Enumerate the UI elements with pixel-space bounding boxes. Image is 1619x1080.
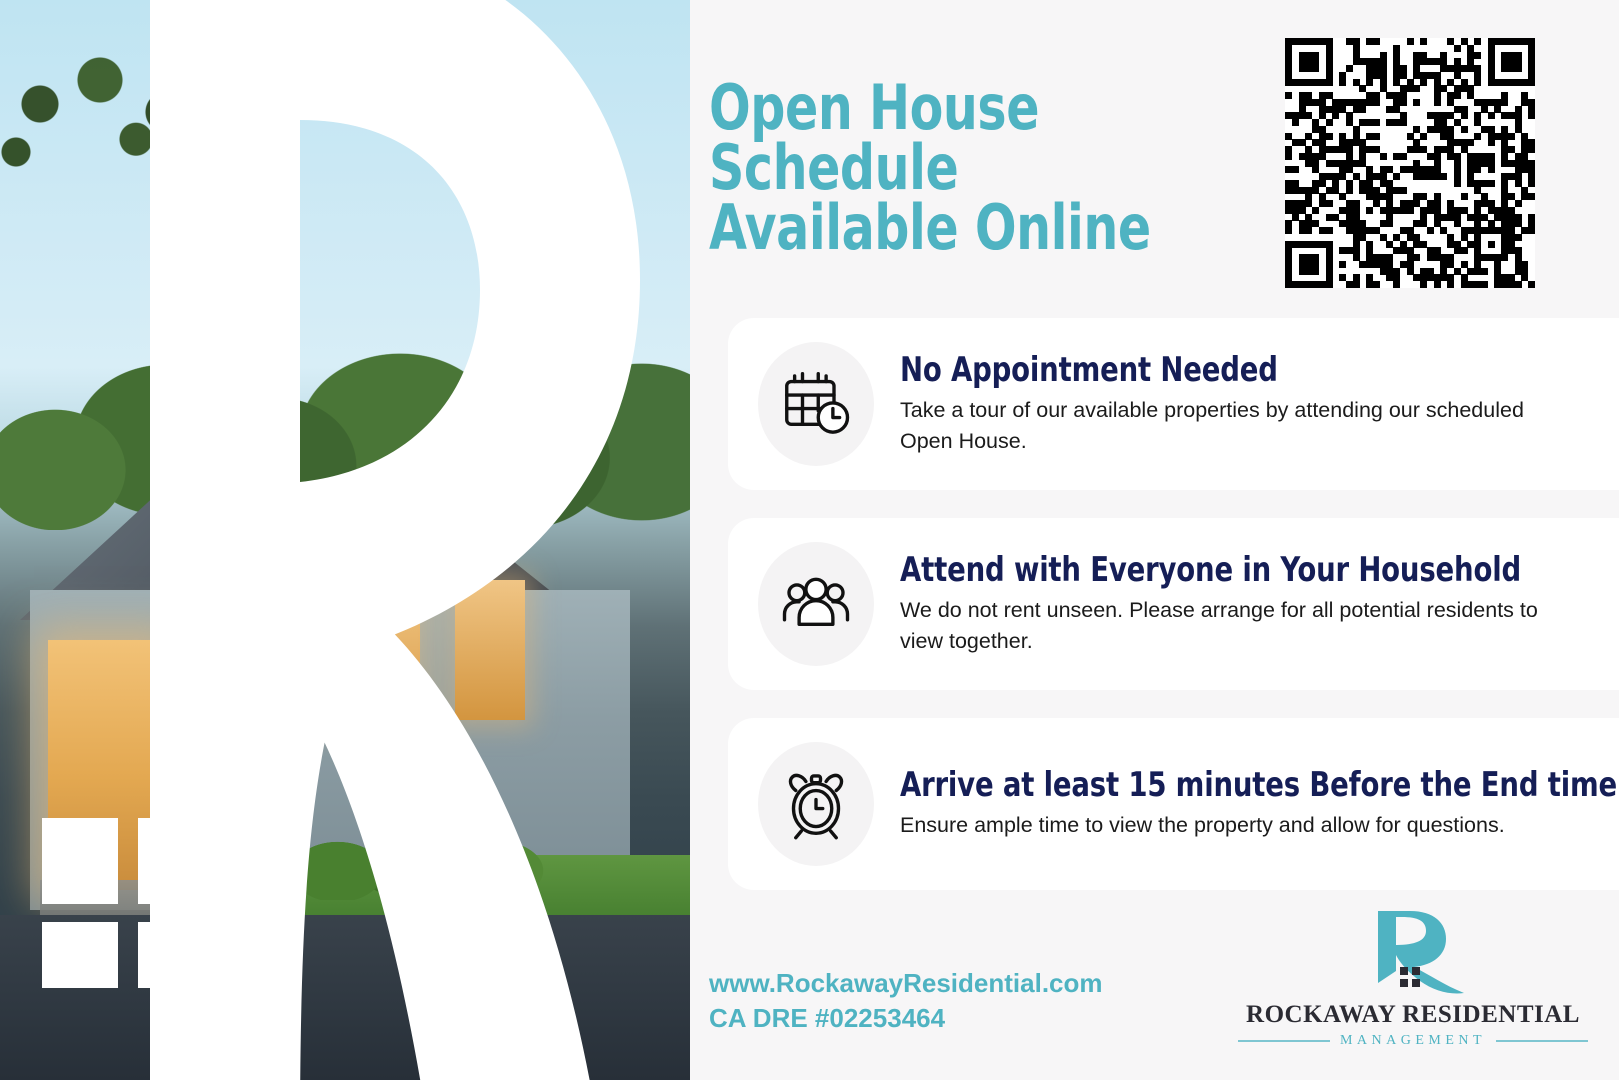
info-card-text: Arrive at least 15 minutes Before the En…: [900, 767, 1619, 841]
figure-child-body: [191, 672, 223, 716]
license-number: CA DRE #02253464: [709, 1001, 1103, 1036]
window-square-4: [138, 922, 214, 988]
info-card-title: No Appointment Needed: [900, 352, 1564, 388]
info-card-no-appointment: No Appointment Needed Take a tour of our…: [728, 318, 1619, 490]
hero-image-panel: [0, 0, 690, 1080]
website-link[interactable]: www.RockawayResidential.com: [709, 966, 1103, 1001]
window-square-2: [138, 818, 214, 904]
figure-adult-body: [187, 722, 225, 800]
info-card-title: Attend with Everyone in Your Household: [900, 552, 1564, 588]
content-panel: Open House Schedule Available Online No …: [690, 0, 1619, 1080]
logo-rule-left: [1238, 1040, 1330, 1042]
tree-line: [0, 330, 690, 530]
qr-code-canvas[interactable]: [1285, 38, 1535, 288]
figure-woman: [248, 705, 294, 860]
info-card-description: Take a tour of our available properties …: [900, 395, 1570, 456]
logo-subtitle: MANAGEMENT: [1340, 1033, 1486, 1049]
company-logo: ROCKAWAY RESIDENTIAL MANAGEMENT: [1238, 905, 1588, 1055]
window-square-1: [42, 818, 118, 904]
info-card-text: No Appointment Needed Take a tour of our…: [900, 352, 1619, 456]
lit-window-left: [330, 560, 420, 720]
figure-woman-head: [261, 705, 281, 728]
logo-r-monogram-icon: [1338, 905, 1488, 997]
window-grid-motif: [42, 818, 210, 988]
headline-line-2: Available Online: [709, 198, 1228, 258]
info-card-title: Arrive at least 15 minutes Before the En…: [900, 767, 1564, 803]
info-card-description: Ensure ample time to view the property a…: [900, 810, 1570, 841]
figure-child-head: [199, 655, 216, 673]
footer-contact: www.RockawayResidential.com CA DRE #0225…: [709, 966, 1103, 1037]
open-house-flyer: Open House Schedule Available Online No …: [0, 0, 1619, 1080]
figure-child: [190, 655, 224, 715]
lit-window-right: [455, 580, 525, 720]
info-card-household: Attend with Everyone in Your Household W…: [728, 518, 1619, 690]
figure-woman-body: [252, 728, 290, 788]
people-group-icon: [758, 542, 874, 666]
info-card-description: We do not rent unseen. Please arrange fo…: [900, 595, 1570, 656]
calendar-clock-icon: [758, 342, 874, 466]
tree-canopy: [0, 40, 280, 200]
info-card-text: Attend with Everyone in Your Household W…: [900, 552, 1619, 656]
logo-wordmark: ROCKAWAY RESIDENTIAL: [1238, 1001, 1588, 1029]
qr-code[interactable]: [1285, 38, 1535, 288]
window-square-3: [42, 922, 118, 988]
logo-subtitle-row: MANAGEMENT: [1238, 1033, 1588, 1049]
headline-line-1: Open House Schedule: [709, 71, 1039, 204]
shrubs: [300, 830, 550, 900]
figure-woman-skirt: [246, 783, 296, 845]
page-title: Open House Schedule Available Online: [709, 78, 1228, 258]
info-card-arrive-early: Arrive at least 15 minutes Before the En…: [728, 718, 1619, 890]
logo-rule-right: [1496, 1040, 1588, 1042]
alarm-clock-icon: [758, 742, 874, 866]
